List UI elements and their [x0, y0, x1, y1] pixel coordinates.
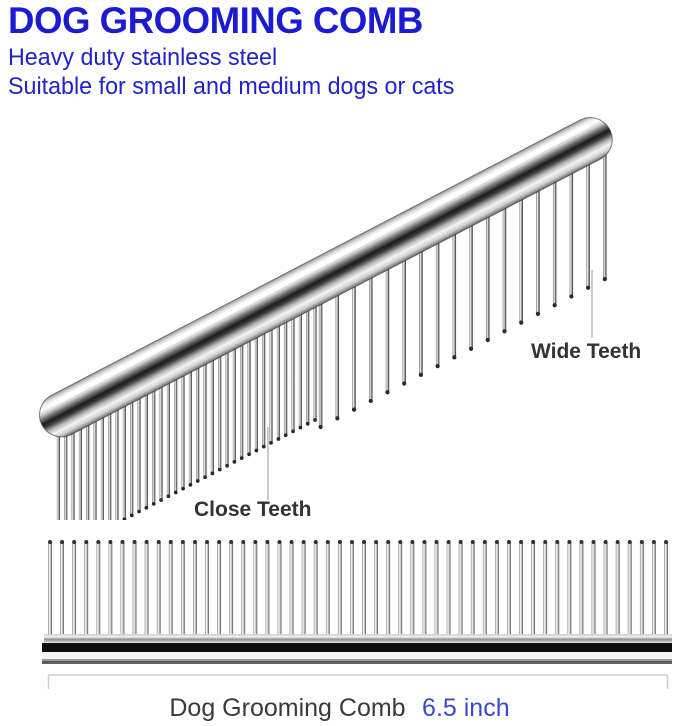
comb-side-tooth — [592, 540, 596, 638]
comb-side-tooth-tip — [531, 540, 535, 544]
comb-side-tooth-tip — [278, 540, 282, 544]
comb-side-tooth-tip — [640, 540, 644, 544]
comb-tooth-tip — [369, 399, 373, 403]
comb-side-tooth-tip — [84, 540, 88, 544]
comb-side-tooth — [253, 540, 257, 638]
comb-side-tooth — [169, 540, 173, 638]
comb-tooth — [189, 367, 192, 485]
comb-tooth — [306, 306, 309, 424]
comb-side-tooth — [157, 540, 161, 638]
comb-tooth-tip — [502, 329, 506, 333]
comb-tooth-tip — [189, 483, 193, 487]
comb-tooth-tip — [255, 449, 259, 453]
comb-tooth-tip — [553, 303, 557, 307]
comb-tooth — [101, 413, 104, 520]
comb-side-tooth-tip — [229, 540, 233, 544]
comb-side-tooth — [567, 540, 571, 638]
comb-tooth — [436, 238, 439, 366]
comb-side-tooth-tip — [205, 540, 209, 544]
comb-tooth — [108, 409, 111, 520]
comb-tooth — [138, 394, 141, 512]
comb-side-tooth-tip — [121, 540, 125, 544]
comb-tooth — [586, 160, 589, 288]
comb-tooth-tip — [145, 506, 149, 510]
comb-tooth-tip — [586, 286, 590, 290]
comb-side-tooth — [326, 540, 330, 638]
comb-side-tooth — [145, 540, 149, 638]
comb-tooth-tip — [211, 472, 215, 476]
comb-side-tooth-tip — [543, 540, 547, 544]
comb-tooth-tip — [603, 277, 607, 281]
comb-side-tooth-tip — [447, 540, 451, 544]
comb-tooth-tip — [536, 312, 540, 316]
comb-side-tooth-tip — [592, 540, 596, 544]
comb-tooth-tip — [284, 433, 288, 437]
comb-tooth — [369, 273, 372, 401]
comb-side-tooth-tip — [362, 540, 366, 544]
product-image-canvas: DOG GROOMING COMB Heavy duty stainless s… — [0, 0, 679, 726]
comb-tooth-tip — [385, 390, 389, 394]
comb-side-tooth — [386, 540, 390, 638]
comb-tooth — [403, 256, 406, 384]
comb-tooth — [152, 386, 155, 504]
comb-tooth-tip — [240, 456, 244, 460]
comb-side-tooth — [229, 540, 233, 638]
comb-tooth — [453, 229, 456, 357]
comb-tooth — [94, 416, 97, 520]
comb-side-tooth — [519, 540, 523, 638]
comb-tooth — [386, 264, 389, 392]
comb-tooth-tip — [519, 321, 523, 325]
comb-side-tooth-tip — [495, 540, 499, 544]
comb-side-tooth — [290, 540, 294, 638]
comb-tooth-tip — [203, 475, 207, 479]
comb-side-tooth — [664, 540, 668, 638]
comb-side-tooth-tip — [72, 540, 76, 544]
comb-side-tooth-tip — [507, 540, 511, 544]
comb-tooth — [226, 348, 229, 466]
comb-side-tooth — [604, 540, 608, 638]
comb-tooth — [603, 151, 606, 279]
comb-tooth-tip — [233, 460, 237, 464]
comb-tooth — [248, 336, 251, 454]
comb-side-tooth — [314, 540, 318, 638]
comb-side-tooth-tip — [459, 540, 463, 544]
comb-tooth — [86, 420, 89, 520]
feature-line-material: Heavy duty stainless steel — [8, 43, 648, 72]
comb-side-tooth — [278, 540, 282, 638]
caption-row: Dog Grooming Comb 6.5 inch — [0, 694, 679, 723]
comb-tooth — [160, 382, 163, 500]
comb-side-tooth — [435, 540, 439, 638]
comb-tooth — [284, 317, 287, 435]
comb-side-tooth — [241, 540, 245, 638]
comb-side-bar — [42, 634, 672, 664]
comb-tooth — [299, 310, 302, 428]
comb-tooth-tip — [130, 514, 134, 518]
comb-side-tooth — [96, 540, 100, 638]
comb-tooth — [486, 212, 489, 340]
comb-tooth — [64, 432, 67, 520]
comb-side-tooth-tip — [314, 540, 318, 544]
comb-tooth — [292, 313, 295, 431]
comb-tooth-tip — [402, 381, 406, 385]
comb-side-tooth-tip — [157, 540, 161, 544]
comb-side-tooth-tip — [108, 540, 112, 544]
comb-tooth — [196, 363, 199, 481]
comb-tooth — [270, 325, 273, 443]
comb-side-tooth-tip — [145, 540, 149, 544]
comb-side-tooth-tip — [96, 540, 100, 544]
comb-tooth — [123, 401, 126, 519]
comb-side-tooth-tip — [616, 540, 620, 544]
comb-tooth-tip — [174, 491, 178, 495]
comb-tooth — [182, 371, 185, 489]
comb-side-tooth-tip — [350, 540, 354, 544]
comb-main-illustration — [0, 70, 679, 520]
comb-tooth — [520, 195, 523, 323]
comb-side-tooth — [507, 540, 511, 638]
comb-tooth-tip — [469, 347, 473, 351]
comb-tooth — [72, 428, 75, 520]
comb-side-tooth — [616, 540, 620, 638]
comb-tooth-tip — [152, 502, 156, 506]
comb-side-tooth — [121, 540, 125, 638]
comb-side-tooth — [338, 540, 342, 638]
comb-side-tooth-tip — [302, 540, 306, 544]
comb-side-tooth — [398, 540, 402, 638]
comb-side-tooth-tip — [338, 540, 342, 544]
comb-side-tooth-tip — [555, 540, 559, 544]
callout-label-close-teeth: Close Teeth — [194, 498, 311, 522]
comb-side-tooth — [302, 540, 306, 638]
comb-side-tooth-tip — [290, 540, 294, 544]
comb-tooth-tip — [419, 373, 423, 377]
comb-side-tooth — [193, 540, 197, 638]
comb-side-tooth — [447, 540, 451, 638]
comb-side-tooth — [531, 540, 535, 638]
comb-tooth — [116, 405, 119, 520]
comb-tooth-tip — [137, 510, 141, 514]
comb-side-tooth-tip — [48, 540, 52, 544]
comb-tooth — [167, 378, 170, 496]
comb-tooth — [204, 359, 207, 477]
comb-tooth-tip — [306, 422, 310, 426]
comb-tooth — [57, 436, 60, 520]
page-title: DOG GROOMING COMB — [8, 2, 661, 40]
comb-tooth-tip — [159, 498, 163, 502]
comb-side-tooth — [205, 540, 209, 638]
comb-side-tooth-tip — [398, 540, 402, 544]
comb-tooth-tip — [299, 426, 303, 430]
comb-tooth-tip — [569, 294, 573, 298]
comb-side-tooth — [374, 540, 378, 638]
comb-side-tooth — [459, 540, 463, 638]
comb-side-tooth-tip — [483, 540, 487, 544]
comb-side-tooth — [410, 540, 414, 638]
caption-size-value: 6.5 inch — [422, 694, 510, 722]
comb-side-tooth — [543, 540, 547, 638]
comb-side-tooth-tip — [628, 540, 632, 544]
comb-side-tooth-tip — [266, 540, 270, 544]
comb-side-tooth-tip — [652, 540, 656, 544]
comb-side-tooth — [84, 540, 88, 638]
comb-tooth-tip — [167, 494, 171, 498]
comb-side-tooth-tip — [241, 540, 245, 544]
comb-tooth — [130, 397, 133, 515]
comb-tooth — [211, 355, 214, 473]
comb-tooth-tip — [269, 441, 273, 445]
comb-tooth-tip — [218, 468, 222, 472]
comb-tooth — [174, 374, 177, 492]
comb-tooth — [145, 390, 148, 508]
comb-side-tooth — [483, 540, 487, 638]
comb-side-tooth-tip — [386, 540, 390, 544]
comb-side-tooth — [423, 540, 427, 638]
comb-tooth-tip — [486, 338, 490, 342]
comb-tooth — [536, 186, 539, 314]
comb-side-tooth-tip — [435, 540, 439, 544]
comb-side-tooth — [266, 540, 270, 638]
comb-side-tooth — [108, 540, 112, 638]
comb-side-tooth — [640, 540, 644, 638]
comb-tooth — [255, 332, 258, 450]
comb-tooth — [553, 177, 556, 305]
comb-side-tooth — [652, 540, 656, 638]
comb-tooth-tip — [291, 430, 295, 434]
comb-tooth — [277, 321, 280, 439]
comb-side-tooth — [495, 540, 499, 638]
comb-side-tooth-tip — [567, 540, 571, 544]
comb-tooth — [503, 203, 506, 331]
comb-side-tooth-tip — [604, 540, 608, 544]
comb-side-tooth — [72, 540, 76, 638]
comb-tooth — [240, 340, 243, 458]
comb-side-tooth — [133, 540, 137, 638]
comb-side-tooth-tip — [423, 540, 427, 544]
comb-tooth — [570, 169, 573, 297]
comb-side-tooth — [181, 540, 185, 638]
comb-side-tooth-tip — [664, 540, 668, 544]
comb-tooth-tip — [225, 464, 229, 468]
comb-tooth — [419, 247, 422, 375]
comb-tooth-tip — [262, 445, 266, 449]
comb-side-tooth-tip — [374, 540, 378, 544]
comb-side-tooth — [217, 540, 221, 638]
comb-side-tooth — [628, 540, 632, 638]
comb-tooth — [336, 290, 339, 418]
comb-tooth-tip — [319, 425, 323, 429]
comb-tooth-tip — [335, 416, 339, 420]
comb-tooth-tip — [313, 418, 317, 422]
comb-tooth — [314, 302, 317, 420]
comb-side-tooth-tip — [253, 540, 257, 544]
comb-tooth-tip — [196, 479, 200, 483]
measurement-bracket — [0, 668, 679, 694]
comb-side-tooth — [362, 540, 366, 638]
comb-side-tooth — [471, 540, 475, 638]
comb-side-tooth-tip — [580, 540, 584, 544]
comb-side-tooth-tip — [410, 540, 414, 544]
comb-tooth — [262, 329, 265, 447]
comb-side-teeth-group — [48, 540, 668, 638]
comb-side-tooth-tip — [326, 540, 330, 544]
comb-side-illustration — [0, 530, 679, 670]
comb-side-tooth-tip — [217, 540, 221, 544]
comb-side-tooth — [48, 540, 52, 638]
comb-handle — [32, 110, 620, 445]
callout-label-wide-teeth: Wide Teeth — [531, 340, 641, 364]
comb-side-tooth-tip — [193, 540, 197, 544]
comb-side-tooth-tip — [471, 540, 475, 544]
comb-tooth — [79, 424, 82, 520]
comb-tooth — [233, 344, 236, 462]
comb-tooth-tip — [247, 452, 251, 456]
comb-side-tooth — [350, 540, 354, 638]
comb-tooth — [218, 352, 221, 470]
comb-tooth-tip — [436, 364, 440, 368]
comb-tooth — [352, 282, 355, 410]
caption-product-name: Dog Grooming Comb — [169, 694, 405, 722]
comb-side-tooth — [580, 540, 584, 638]
comb-teeth-group — [57, 151, 607, 520]
comb-side-tooth — [555, 540, 559, 638]
comb-side-tooth-tip — [133, 540, 137, 544]
comb-side-tooth-tip — [60, 540, 64, 544]
comb-tooth-tip — [452, 355, 456, 359]
comb-tooth-tip — [352, 408, 356, 412]
comb-side-tooth-tip — [519, 540, 523, 544]
comb-tooth-tip — [181, 487, 185, 491]
comb-side-tooth-tip — [169, 540, 173, 544]
comb-tooth — [319, 299, 322, 427]
comb-side-tooth-tip — [181, 540, 185, 544]
comb-tooth — [469, 221, 472, 349]
comb-tooth-tip — [277, 437, 281, 441]
comb-side-tooth — [60, 540, 64, 638]
